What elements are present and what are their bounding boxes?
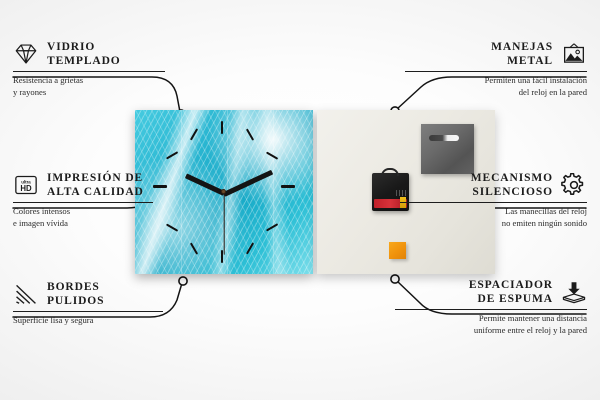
feature-title: BORDES PULIDOS [47, 280, 104, 308]
feature-heading: BORDES PULIDOS [13, 280, 193, 308]
clock-face-seam [273, 110, 274, 274]
svg-text:HD: HD [20, 184, 32, 193]
feature-description: Resistencia a grietas y rayones [13, 75, 193, 99]
foam-spacer-icon [561, 280, 587, 304]
feature-title: MECANISMO SILENCIOSO [400, 171, 553, 199]
picture-frame-icon [561, 42, 587, 66]
feature-espaciador-espuma: ESPACIADOR DE ESPUMA Permite mantener un… [395, 278, 587, 337]
hanger-slot [429, 135, 459, 141]
feature-manejas-metal: MANEJAS METAL Permiten una fácil instala… [405, 40, 587, 99]
mechanism-hook [381, 168, 399, 176]
gear-icon [561, 173, 587, 197]
feature-title: MANEJAS METAL [405, 40, 553, 68]
feature-divider [395, 309, 587, 310]
feature-heading: MANEJAS METAL [405, 40, 587, 68]
feature-description: Superficie lisa y segura [13, 315, 193, 327]
feature-title: IMPRESIÓN DE ALTA CALIDAD [47, 171, 144, 199]
feature-heading: MECANISMO SILENCIOSO [400, 171, 587, 199]
feature-description: Las manecillas del reloj no emiten ningú… [400, 206, 587, 230]
metal-hanger-bracket [421, 124, 474, 174]
feature-title: ESPACIADOR DE ESPUMA [395, 278, 553, 306]
feature-description: Permite mantener una distancia uniforme … [395, 313, 587, 337]
feature-divider [13, 311, 163, 312]
feature-bordes-pulidos: BORDES PULIDOS Superficie lisa y segura [13, 280, 193, 327]
foam-spacer [389, 242, 406, 259]
ultra-hd-icon: ultra HD [13, 173, 39, 197]
feature-title: VIDRIO TEMPLADO [47, 40, 121, 68]
feature-impresion-alta-calidad: ultra HD IMPRESIÓN DE ALTA CALIDAD Color… [13, 171, 198, 230]
diamond-icon [13, 42, 39, 66]
infographic-canvas: VIDRIO TEMPLADO Resistencia a grietas y … [0, 0, 600, 400]
feature-divider [400, 202, 587, 203]
feature-heading: VIDRIO TEMPLADO [13, 40, 193, 68]
polished-edges-icon [13, 282, 39, 306]
feature-description: Colores intensos e imagen vívida [13, 206, 198, 230]
feature-divider [13, 202, 153, 203]
clock-pivot [221, 189, 226, 194]
clock-tick [281, 185, 295, 188]
feature-heading: ESPACIADOR DE ESPUMA [395, 278, 587, 306]
feature-divider [405, 71, 587, 72]
feature-mecanismo-silencioso: MECANISMO SILENCIOSO Las manecillas del … [400, 171, 587, 230]
feature-heading: ultra HD IMPRESIÓN DE ALTA CALIDAD [13, 171, 198, 199]
feature-divider [13, 71, 165, 72]
clock-second-hand [223, 193, 224, 255]
feature-vidrio-templado: VIDRIO TEMPLADO Resistencia a grietas y … [13, 40, 193, 99]
feature-description: Permiten una fácil instalación del reloj… [405, 75, 587, 99]
